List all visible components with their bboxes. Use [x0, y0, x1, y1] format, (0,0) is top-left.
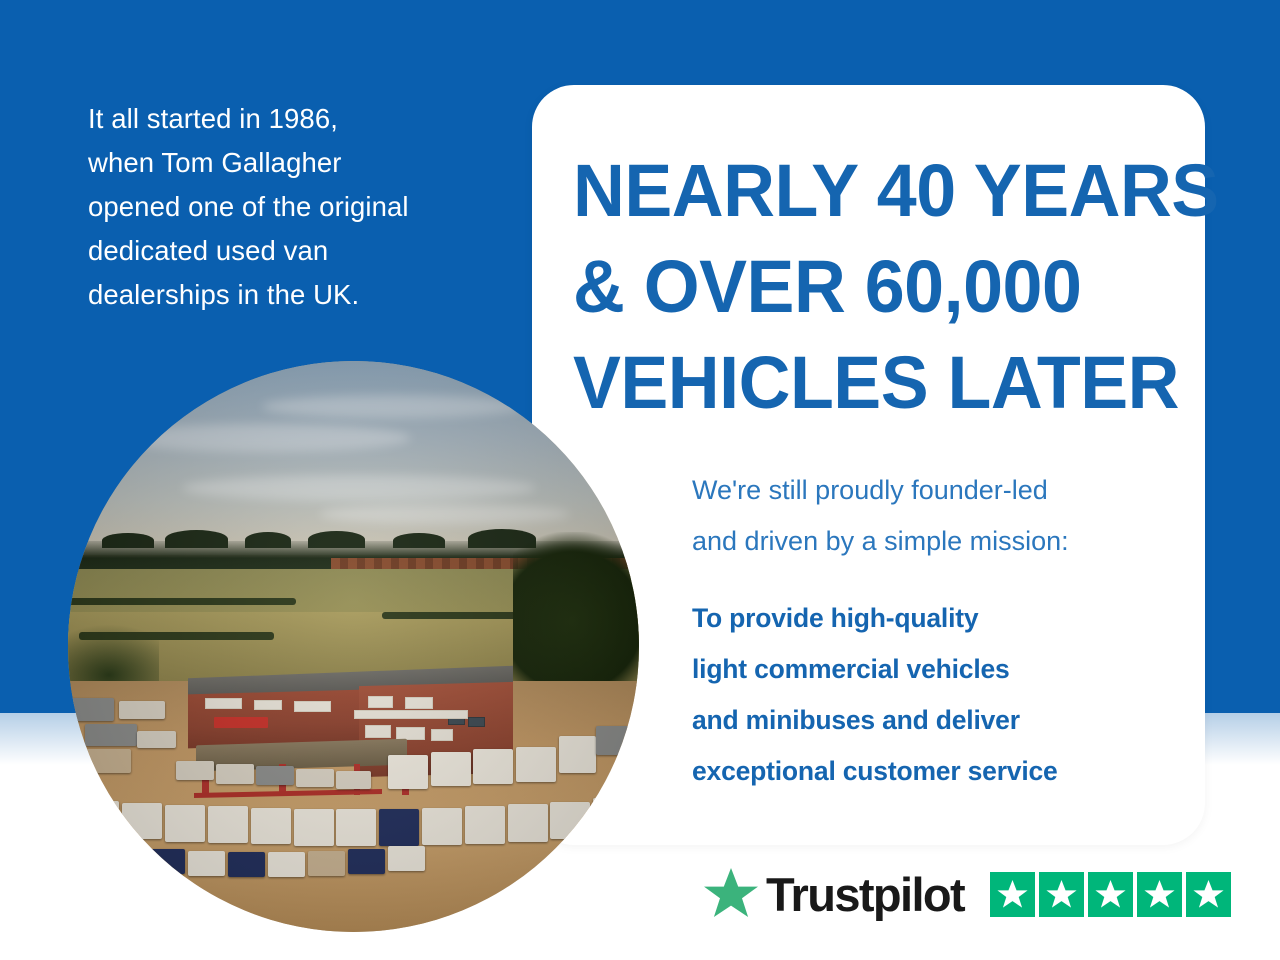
tree-cluster-right	[513, 532, 639, 680]
mission-lead-line: We're still proudly founder-led	[692, 465, 1192, 516]
window	[365, 725, 391, 738]
dealership-photo	[68, 361, 639, 932]
window	[368, 696, 394, 708]
vehicle	[176, 761, 213, 780]
vehicle	[559, 736, 596, 774]
window	[254, 700, 283, 711]
photo-illustration	[68, 361, 639, 932]
vehicle	[256, 766, 293, 784]
vehicle	[122, 803, 162, 840]
vehicle	[68, 698, 114, 721]
headline-line: NEARLY 40 YEARS	[573, 143, 1174, 239]
headline-line: & OVER 60,000	[573, 239, 1174, 335]
tree	[393, 533, 444, 548]
cloud	[319, 504, 570, 524]
vehicle	[294, 809, 334, 847]
vehicle	[516, 747, 556, 782]
star-icon	[1088, 872, 1133, 917]
hedgerow	[68, 598, 296, 605]
trustpilot-logo[interactable]: Trustpilot	[703, 867, 964, 921]
vehicle	[165, 805, 205, 842]
intro-line: opened one of the original	[88, 185, 488, 229]
vehicle	[308, 851, 345, 876]
mission-statement-line: and minibuses and deliver	[692, 695, 1192, 746]
intro-paragraph: It all started in 1986, when Tom Gallagh…	[88, 97, 488, 317]
vehicle	[431, 752, 471, 786]
window	[405, 697, 434, 709]
vehicle	[79, 801, 119, 838]
vehicle	[596, 726, 630, 755]
vehicle	[74, 749, 131, 773]
tree	[308, 531, 365, 548]
intro-line: dedicated used van	[88, 229, 488, 273]
vehicle	[119, 701, 165, 719]
vehicle	[336, 809, 376, 847]
vehicle	[296, 769, 333, 787]
vehicle	[473, 749, 513, 783]
intro-line: It all started in 1986,	[88, 97, 488, 141]
trustpilot-star-icon	[703, 867, 759, 921]
vehicle	[216, 764, 253, 783]
promo-graphic: It all started in 1986, when Tom Gallagh…	[0, 0, 1280, 960]
trustpilot-wordmark: Trustpilot	[766, 871, 964, 918]
vehicle	[148, 849, 185, 874]
vehicle	[336, 771, 370, 789]
sky	[68, 361, 639, 555]
cloud	[182, 475, 536, 501]
vehicle	[422, 808, 462, 846]
vehicle	[348, 849, 385, 874]
vehicle	[465, 806, 505, 844]
window	[396, 727, 425, 740]
window	[431, 729, 454, 742]
mission-lead-text: We're still proudly founder-led and driv…	[692, 465, 1192, 567]
mission-statement-line: exceptional customer service	[692, 746, 1192, 797]
star-icon	[1186, 872, 1231, 917]
vehicle	[228, 852, 265, 877]
cloud	[114, 424, 411, 453]
window	[468, 717, 485, 727]
vehicle	[379, 809, 419, 847]
vehicle	[593, 798, 633, 836]
star-icon	[1039, 872, 1084, 917]
mission-statement-line: light commercial vehicles	[692, 644, 1192, 695]
vehicle	[85, 724, 136, 747]
tree	[165, 530, 228, 548]
mission-lead-line: and driven by a simple mission:	[692, 516, 1192, 567]
headline-line: VEHICLES LATER	[573, 335, 1174, 431]
vehicle	[268, 852, 305, 877]
intro-line: when Tom Gallagher	[88, 141, 488, 185]
tree	[102, 533, 153, 548]
vehicle	[251, 808, 291, 845]
trustpilot-star-rating[interactable]	[990, 872, 1231, 917]
vehicle	[137, 731, 177, 748]
trustpilot-rating[interactable]: Trustpilot	[703, 866, 1231, 922]
cloud	[262, 395, 525, 418]
window	[205, 698, 242, 709]
window	[294, 701, 331, 712]
vehicle	[388, 846, 425, 871]
window-band	[354, 710, 468, 719]
tree	[245, 532, 291, 548]
mission-statement: To provide high-quality light commercial…	[692, 593, 1192, 797]
star-icon	[990, 872, 1035, 917]
dealership-sign	[214, 717, 268, 728]
vehicle	[508, 804, 548, 842]
vehicle	[208, 806, 248, 843]
mission-statement-line: To provide high-quality	[692, 593, 1192, 644]
star-icon	[1137, 872, 1182, 917]
headline: NEARLY 40 YEARS & OVER 60,000 VEHICLES L…	[573, 143, 1174, 431]
intro-line: dealerships in the UK.	[88, 273, 488, 317]
vehicle	[550, 802, 590, 840]
vehicle	[388, 755, 428, 789]
vehicle	[188, 851, 225, 876]
